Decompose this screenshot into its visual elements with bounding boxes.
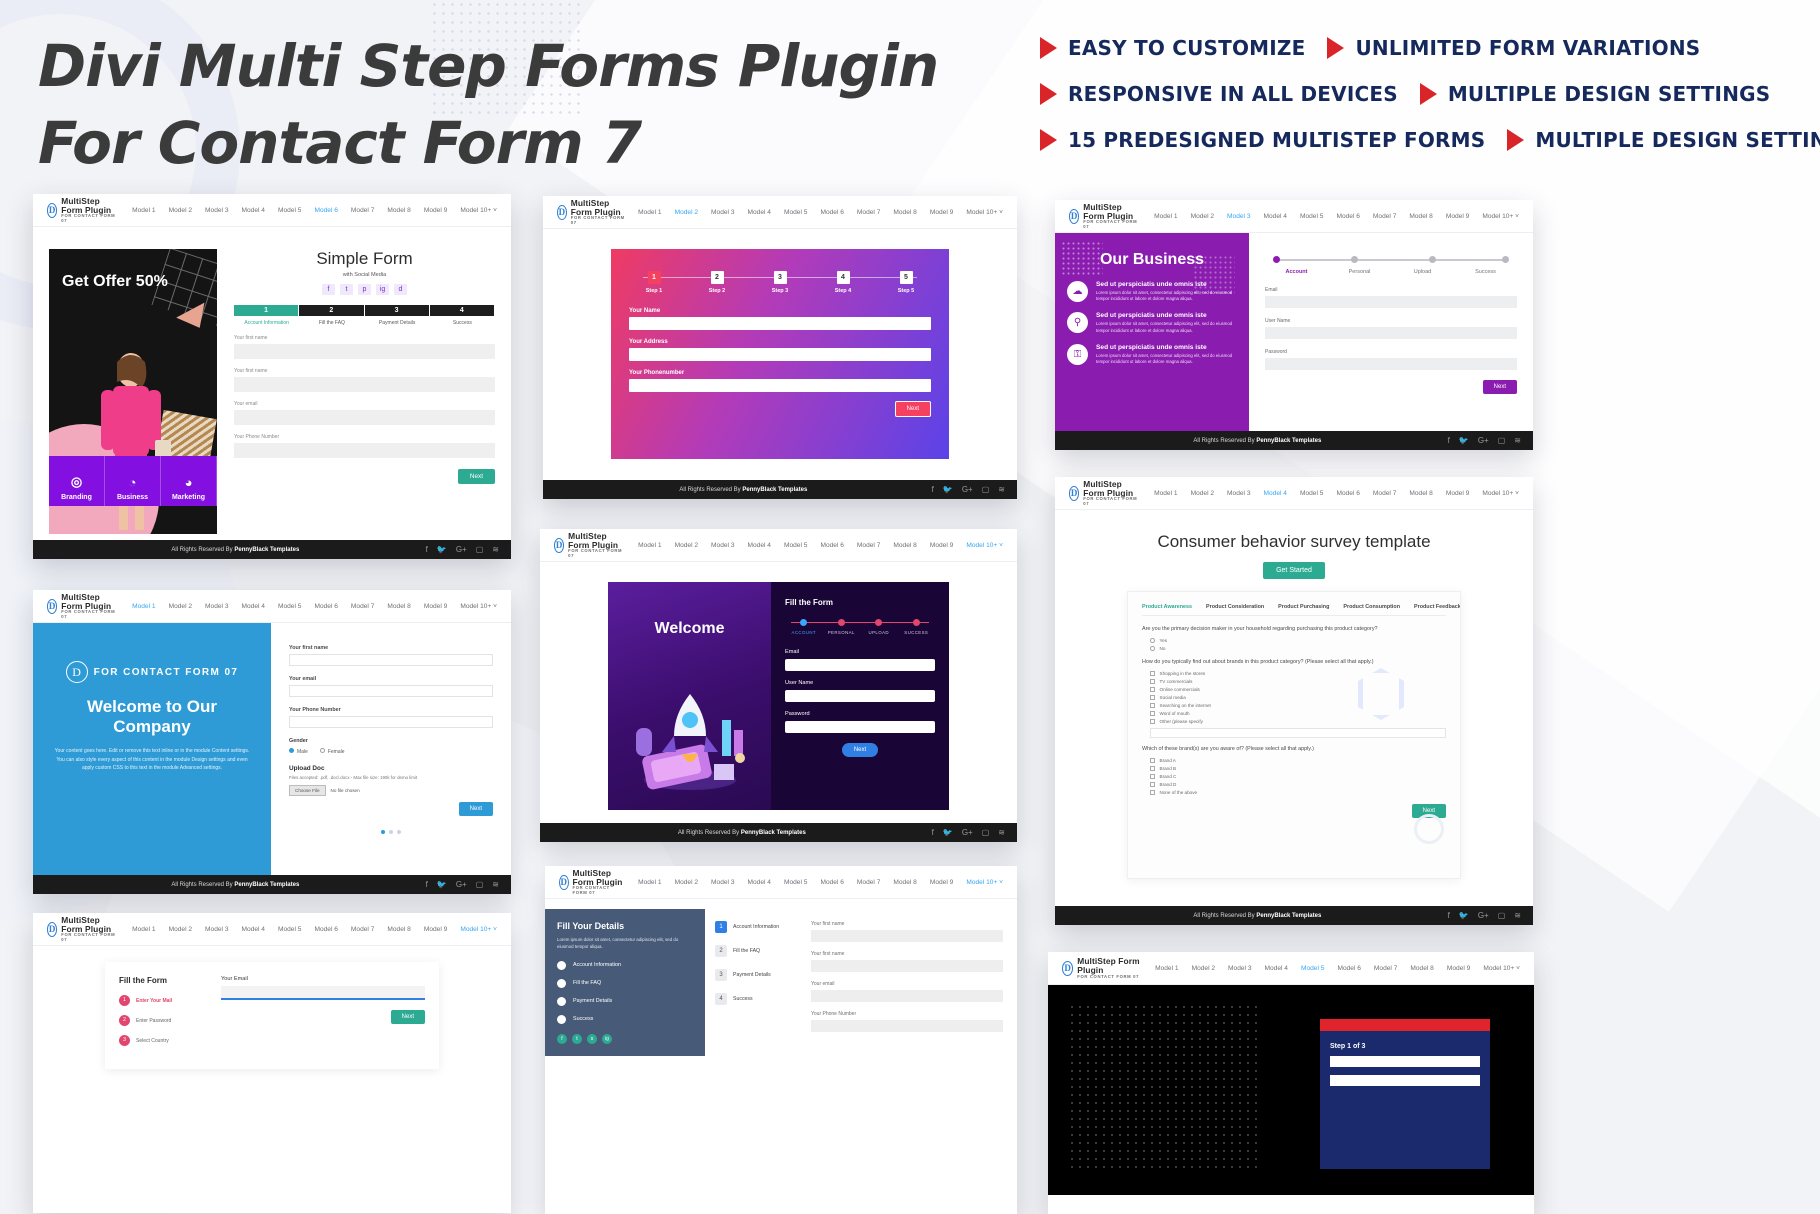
last-name-input[interactable] <box>234 377 495 392</box>
name-input[interactable] <box>629 317 931 330</box>
tab-product-awareness[interactable]: Product Awareness <box>1142 604 1192 610</box>
nav-item-model-3[interactable]: Model 3 <box>205 207 228 214</box>
checkbox-option[interactable]: Brand B <box>1150 766 1446 771</box>
arrow-right-icon <box>1507 129 1524 151</box>
facebook-icon[interactable]: f <box>932 828 934 837</box>
step-enter-password[interactable]: 2 Enter Password <box>119 1015 211 1026</box>
category-marketing[interactable]: ◕ Marketing <box>161 456 217 506</box>
feature-item: MULTIPLE DESIGN SETTINGS <box>1420 82 1771 106</box>
instagram-icon[interactable]: ▢ <box>982 828 990 837</box>
progress-dot-success[interactable] <box>1502 256 1509 263</box>
nav-item-model-9[interactable]: Model 9 <box>1446 490 1469 497</box>
tab-product-consumption[interactable]: Product Consumption <box>1343 604 1400 610</box>
email-input[interactable] <box>289 685 493 697</box>
field-label: Your email <box>234 401 495 407</box>
nav-item-model-4[interactable]: Model 4 <box>748 542 771 549</box>
step-2[interactable]: 2 Step 2 <box>698 271 736 294</box>
step-payment-details[interactable]: 3Payment Details <box>715 969 811 981</box>
nav-item-model-2[interactable]: Model 2 <box>1192 965 1215 972</box>
nav-item-model-9[interactable]: Model 9 <box>930 879 953 886</box>
nav-item-model-8[interactable]: Model 8 <box>387 603 410 610</box>
nav-item-model-2[interactable]: Model 2 <box>1191 490 1214 497</box>
nav-item-model-9[interactable]: Model 9 <box>424 603 447 610</box>
nav-item-model-2[interactable]: Model 2 <box>675 542 698 549</box>
site-nav: D MultiStep Form Plugin FOR CONTACT FORM… <box>33 913 511 946</box>
step-1[interactable]: 1 Step 1 <box>635 271 673 294</box>
rss-icon[interactable]: ≋ <box>1514 911 1521 920</box>
form-subtitle: with Social Media <box>234 272 495 278</box>
instagram-icon[interactable]: ▢ <box>1498 436 1506 445</box>
skype-icon[interactable]: s <box>587 1034 597 1044</box>
form-input[interactable] <box>1330 1075 1480 1086</box>
tab-product-purchasing[interactable]: Product Purchasing <box>1278 604 1329 610</box>
nav-item-model-6[interactable]: Model 6 <box>314 926 337 933</box>
feature-label: MULTIPLE DESIGN SETTINGS <box>1535 128 1820 152</box>
password-input[interactable] <box>1265 358 1517 370</box>
nav-item-model-1[interactable]: Model 1 <box>1155 965 1178 972</box>
gender-label: Gender <box>289 738 493 744</box>
question-2: How do you typically find out about bran… <box>1142 659 1446 665</box>
instagram-icon[interactable]: ▢ <box>982 485 990 494</box>
nav-item-model-8[interactable]: Model 8 <box>387 926 410 933</box>
pager-dot-1[interactable] <box>381 830 385 834</box>
googleplus-icon[interactable]: G+ <box>1478 436 1489 445</box>
brand-logo: D MultiStep Form Plugin FOR CONTACT FORM… <box>559 869 625 895</box>
step-number-1[interactable]: 1 <box>234 305 298 316</box>
field-label: Your first name <box>811 921 1003 927</box>
nav-item-model-5[interactable]: Model 5 <box>1300 490 1323 497</box>
twitter-icon[interactable]: 🐦 <box>437 545 447 554</box>
business-panel: Our Business ☁ Sed ut perspiciatis unde … <box>1055 233 1249 431</box>
email-input[interactable] <box>785 659 935 671</box>
progress-dot-personal[interactable] <box>1351 256 1358 263</box>
nav-item-model-6[interactable]: Model 6 <box>1336 490 1359 497</box>
divi-logo-icon: D <box>554 538 564 553</box>
next-button[interactable]: Next <box>842 743 878 757</box>
business-icon: ◔ <box>129 475 137 490</box>
footer-socials: f 🐦 G+ ▢ ≋ <box>932 485 1005 494</box>
nav-item-model-10plus[interactable]: Model 10+ ˅ <box>966 542 1003 549</box>
nav-item-model-1[interactable]: Model 1 <box>132 603 155 610</box>
divi-logo-icon: D <box>66 661 88 683</box>
brand-tagline: FOR CONTACT FORM 07 <box>61 933 119 942</box>
username-input[interactable] <box>785 690 935 702</box>
twitter-icon[interactable]: 🐦 <box>1459 436 1469 445</box>
nav-item-model-10plus[interactable]: Model 10+ ˅ <box>460 207 497 214</box>
nav-item-model-1[interactable]: Model 1 <box>132 207 155 214</box>
next-button[interactable]: Next <box>1483 380 1517 394</box>
nav-item-model-5[interactable]: Model 5 <box>784 209 807 216</box>
nav-item-model-9[interactable]: Model 9 <box>424 207 447 214</box>
nav-item-model-3[interactable]: Model 3 <box>711 542 734 549</box>
feature-label: MULTIPLE DESIGN SETTINGS <box>1448 82 1771 106</box>
nav-item-model-3[interactable]: Model 3 <box>205 926 228 933</box>
radio-option[interactable]: Yes <box>1150 638 1446 643</box>
hero-line-2: For Contact Form 7 <box>38 105 988 182</box>
site-footer: All Rights Reserved By PennyBlack Templa… <box>543 480 1017 499</box>
checkbox-option[interactable]: Shopping in the stores <box>1150 671 1446 676</box>
step-number-2[interactable]: 2 <box>299 305 363 316</box>
checkbox-option[interactable]: Other (please specify <box>1150 719 1446 724</box>
feature-item: MULTIPLE DESIGN SETTINGS <box>1507 128 1820 152</box>
field-label: User Name <box>1265 318 1517 324</box>
progress-label-account: Account <box>1265 269 1328 275</box>
googleplus-icon[interactable]: G+ <box>962 828 973 837</box>
step-number: 4 <box>837 271 850 284</box>
step-select-country[interactable]: 3 Select Country <box>119 1035 211 1046</box>
social-icons: f t p ig d <box>234 284 495 295</box>
step-4[interactable]: 4 Step 4 <box>824 271 862 294</box>
panel-step-account[interactable]: Account Information <box>557 961 693 970</box>
next-button[interactable]: Next <box>459 802 493 816</box>
rss-icon[interactable]: ≋ <box>1514 436 1521 445</box>
address-input[interactable] <box>629 348 931 361</box>
rss-icon[interactable]: ≋ <box>492 545 499 554</box>
nav-item-model-8[interactable]: Model 8 <box>1409 213 1432 220</box>
field-group: Email <box>1265 287 1517 308</box>
pager-dot-2[interactable] <box>389 830 393 834</box>
nav-item-model-5[interactable]: Model 5 <box>278 603 301 610</box>
nav-item-model-3[interactable]: Model 3 <box>205 603 228 610</box>
twitter-icon[interactable]: 🐦 <box>1459 911 1469 920</box>
nav-item-model-7[interactable]: Model 7 <box>1374 965 1397 972</box>
twitter-icon[interactable]: 🐦 <box>943 485 953 494</box>
nav-item-model-7[interactable]: Model 7 <box>857 879 880 886</box>
feature-item: 15 PREDESIGNED MULTISTEP FORMS <box>1040 128 1485 152</box>
nav-item-model-3[interactable]: Model 3 <box>1227 490 1250 497</box>
step-success[interactable]: 4Success <box>715 993 811 1005</box>
promo-headline: Get Offer 50% <box>62 273 168 291</box>
field-group: Your first name <box>289 645 493 666</box>
step-enter-mail[interactable]: 1 Enter Your Mail <box>119 995 211 1006</box>
nav-item-model-2[interactable]: Model 2 <box>169 926 192 933</box>
panel-step-success[interactable]: Success <box>557 1015 693 1024</box>
details-panel: Fill Your Details Lorem ipsum dolor sit … <box>545 909 705 1056</box>
nav-item-model-10plus[interactable]: Model 10+ ˅ <box>966 879 1003 886</box>
nav-item-model-7[interactable]: Model 7 <box>351 207 374 214</box>
form-title: Simple Form <box>234 249 495 269</box>
facebook-icon[interactable]: f <box>322 284 335 295</box>
nav-item-model-2[interactable]: Model 2 <box>675 209 698 216</box>
screenshot-card-model-5-dark: D MultiStep Form Plugin FOR CONTACT FORM… <box>1048 952 1534 1214</box>
screenshot-card-model-2: D MultiStep Form Plugin FOR CONTACT FORM… <box>543 196 1017 499</box>
field-label: Your Email <box>221 976 425 982</box>
tab-product-feedback[interactable]: Product Feedback <box>1414 604 1461 610</box>
get-started-button[interactable]: Get Started <box>1263 562 1325 579</box>
nav-item-model-2[interactable]: Model 2 <box>675 879 698 886</box>
question-1-options: Yes No <box>1150 638 1446 651</box>
checkbox-option[interactable]: None of the above <box>1150 790 1446 795</box>
progress-labels: Account Personal Upload Success <box>1265 269 1517 275</box>
next-button[interactable]: Next <box>458 469 495 484</box>
nav-item-model-6[interactable]: Model 6 <box>314 207 337 214</box>
twitter-icon[interactable]: t <box>572 1034 582 1044</box>
step-number: 5 <box>900 271 913 284</box>
nav-item-model-8[interactable]: Model 8 <box>1409 490 1432 497</box>
nav-item-model-4[interactable]: Model 4 <box>748 879 771 886</box>
tab-product-consideration[interactable]: Product Consideration <box>1206 604 1264 610</box>
feature-label: EASY TO CUSTOMIZE <box>1068 36 1305 60</box>
phone-input[interactable] <box>811 1020 1003 1032</box>
site-footer: All Rights Reserved By PennyBlack Templa… <box>33 540 511 559</box>
brand-tagline: FOR CONTACT FORM 07 <box>571 216 625 225</box>
nav-item-model-10plus[interactable]: Model 10+ ˅ <box>1482 213 1519 220</box>
nav-item-model-8[interactable]: Model 8 <box>893 542 916 549</box>
nav-item-model-4[interactable]: Model 4 <box>1265 965 1288 972</box>
brand-name: MultiStep Form Plugin <box>573 869 626 887</box>
welcome-text: Welcome <box>655 620 725 638</box>
phone-input[interactable] <box>234 443 495 458</box>
next-button[interactable]: Next <box>391 1010 425 1024</box>
nav-item-model-1[interactable]: Model 1 <box>1154 490 1177 497</box>
step-personal[interactable]: PERSONAL <box>823 619 861 635</box>
choose-file-button[interactable]: Choose File <box>289 785 326 796</box>
first-name-input[interactable] <box>811 930 1003 942</box>
nav-item-model-5[interactable]: Model 5 <box>784 542 807 549</box>
instagram-icon[interactable]: ▢ <box>1498 911 1506 920</box>
panel-title: Fill Your Details <box>557 921 693 931</box>
nav-item-model-2[interactable]: Model 2 <box>169 207 192 214</box>
branding-icon: ◎ <box>71 474 82 490</box>
screenshot-card-model-1: D MultiStep Form Plugin FOR CONTACT FORM… <box>33 590 511 894</box>
nav-item-model-5[interactable]: Model 5 <box>278 207 301 214</box>
radio-male[interactable]: Male <box>289 748 308 755</box>
twitter-icon[interactable]: 🐦 <box>943 828 953 837</box>
nav-item-model-7[interactable]: Model 7 <box>351 926 374 933</box>
field-group: Your Phonenumber <box>629 370 931 392</box>
nav-item-model-9[interactable]: Model 9 <box>1447 965 1470 972</box>
step-5[interactable]: 5 Step 5 <box>887 271 925 294</box>
nav-item-model-3[interactable]: Model 3 <box>1228 965 1251 972</box>
nav-item-model-5[interactable]: Model 5 <box>1300 213 1323 220</box>
nav-item-model-6[interactable]: Model 6 <box>820 879 843 886</box>
checkbox-option[interactable]: Brand C <box>1150 774 1446 779</box>
file-input-row[interactable]: Choose File No file chosen <box>289 785 493 796</box>
screenshot-card-model-4-survey: D MultiStep Form Plugin FOR CONTACT FORM… <box>1055 477 1533 925</box>
gradient-form: 1 Step 1 2 Step 2 3 Step 3 4 Step 4 <box>611 249 949 459</box>
feature-row: EASY TO CUSTOMIZE UNLIMITED FORM VARIATI… <box>1040 36 1800 60</box>
googleplus-icon[interactable]: G+ <box>456 545 467 554</box>
step-account[interactable]: ACCOUNT <box>785 619 823 635</box>
promo-page: Divi Multi Step Forms Plugin For Contact… <box>0 0 1820 1214</box>
googleplus-icon[interactable]: G+ <box>456 880 467 889</box>
checkbox-option[interactable]: Brand D <box>1150 782 1446 787</box>
nav-item-model-7[interactable]: Model 7 <box>1373 490 1396 497</box>
nav-item-model-1[interactable]: Model 1 <box>638 542 661 549</box>
first-name-input[interactable] <box>289 654 493 666</box>
footer-text: All Rights Reserved By PennyBlack Templa… <box>679 487 807 493</box>
item-desc: Lorem ipsum dolor sit amet, consectetur … <box>1096 321 1237 333</box>
googleplus-icon[interactable]: G+ <box>962 485 973 494</box>
googleplus-icon[interactable]: G+ <box>1478 911 1489 920</box>
facebook-icon[interactable]: f <box>426 545 428 554</box>
radio-female[interactable]: Female <box>320 748 345 755</box>
field-group: Your email <box>289 676 493 697</box>
twitter-icon[interactable]: t <box>340 284 353 295</box>
brand-logo: D MultiStep Form Plugin FOR CONTACT FORM… <box>1062 957 1142 979</box>
nav-item-model-10plus[interactable]: Model 10+ ˅ <box>966 209 1003 216</box>
checkbox-option[interactable]: Word of mouth <box>1150 711 1446 716</box>
nav-item-model-3[interactable]: Model 3 <box>711 209 734 216</box>
nav-item-model-8[interactable]: Model 8 <box>1410 965 1433 972</box>
field-group: Password <box>785 711 935 733</box>
nav-item-model-6[interactable]: Model 6 <box>314 603 337 610</box>
survey-tabs: Product Awareness Product Consideration … <box>1142 604 1446 616</box>
panel-step-payment[interactable]: Payment Details <box>557 997 693 1006</box>
brand-tagline: FOR CONTACT FORM 07 <box>1077 975 1142 979</box>
phone-input[interactable] <box>629 379 931 392</box>
nav-item-model-4[interactable]: Model 4 <box>1264 490 1287 497</box>
email-input[interactable] <box>221 986 425 1000</box>
field-group: Your first name <box>811 951 1003 972</box>
nav-item-model-2[interactable]: Model 2 <box>169 603 192 610</box>
checkbox-option[interactable]: Brand A <box>1150 758 1446 763</box>
instagram-icon[interactable]: ▢ <box>476 545 484 554</box>
phone-input[interactable] <box>289 716 493 728</box>
nav-item-model-5[interactable]: Model 5 <box>278 926 301 933</box>
nav-item-model-6[interactable]: Model 6 <box>820 209 843 216</box>
footer-text: All Rights Reserved By PennyBlack Templa… <box>678 830 806 836</box>
step-success[interactable]: SUCCESS <box>898 619 936 635</box>
brand-logo: D MultiStep Form Plugin FOR CONTACT FORM… <box>557 199 625 225</box>
facebook-icon[interactable]: f <box>932 485 934 494</box>
nav-item-model-1[interactable]: Model 1 <box>638 879 661 886</box>
step-indicator: ACCOUNT PERSONAL UPLOAD SUCCESS <box>785 619 935 635</box>
nav-item-model-5[interactable]: Model 5 <box>784 879 807 886</box>
rocket-illustration <box>630 672 750 792</box>
step-upload[interactable]: UPLOAD <box>860 619 898 635</box>
nav-links: Model 1 Model 2 Model 3 Model 4 Model 5 … <box>625 209 1003 216</box>
nav-item-model-9[interactable]: Model 9 <box>1446 213 1469 220</box>
next-button[interactable]: Next <box>895 401 931 417</box>
nav-item-model-4[interactable]: Model 4 <box>242 926 265 933</box>
fill-form-panel: Fill the Form 1 Enter Your Mail 2 Enter … <box>105 962 439 1069</box>
nav-item-model-1[interactable]: Model 1 <box>132 926 155 933</box>
category-label: Branding <box>61 494 92 501</box>
upload-note: Files accepted: .pdf, .doc/.docx - Max f… <box>289 775 493 780</box>
nav-item-model-3[interactable]: Model 3 <box>711 879 734 886</box>
nav-item-model-6[interactable]: Model 6 <box>1337 965 1360 972</box>
nav-item-model-4[interactable]: Model 4 <box>242 207 265 214</box>
brand-name: MultiStep Form Plugin <box>1083 203 1141 221</box>
nav-item-model-4[interactable]: Model 4 <box>1264 213 1287 220</box>
field-group: Your Address <box>629 339 931 361</box>
brand-tagline: FOR CONTACT FORM 07 <box>568 549 625 558</box>
nav-item-model-9[interactable]: Model 9 <box>930 209 953 216</box>
category-business[interactable]: ◔ Business <box>105 456 161 506</box>
password-input[interactable] <box>785 721 935 733</box>
step-number-4[interactable]: 4 <box>430 305 494 316</box>
progress-label-personal: Personal <box>1328 269 1391 275</box>
dribbble-icon[interactable]: d <box>394 284 407 295</box>
step-label: Enter Password <box>136 1018 171 1024</box>
instagram-icon[interactable]: ig <box>602 1034 612 1044</box>
nav-item-model-8[interactable]: Model 8 <box>893 209 916 216</box>
nav-item-model-10plus[interactable]: Model 10+ ˅ <box>1482 490 1519 497</box>
nav-item-model-10plus[interactable]: Model 10+ ˅ <box>1483 965 1520 972</box>
nav-item-model-4[interactable]: Model 4 <box>242 603 265 610</box>
site-footer: All Rights Reserved By PennyBlack Templa… <box>1055 906 1533 925</box>
rss-icon[interactable]: ≋ <box>998 828 1005 837</box>
nav-item-model-6[interactable]: Model 6 <box>820 542 843 549</box>
twitter-icon[interactable]: 🐦 <box>437 880 447 889</box>
email-input[interactable] <box>1265 296 1517 308</box>
nav-item-model-5[interactable]: Model 5 <box>1301 965 1324 972</box>
other-specify-input[interactable] <box>1150 728 1446 738</box>
item-title: Sed ut perspiciatis unde omnis iste <box>1096 344 1237 351</box>
nav-item-model-7[interactable]: Model 7 <box>857 542 880 549</box>
facebook-icon[interactable]: f <box>1448 911 1450 920</box>
form-input[interactable] <box>1330 1056 1480 1067</box>
radio-option[interactable]: No <box>1150 646 1446 651</box>
panel-step-faq[interactable]: Fill the FAQ <box>557 979 693 988</box>
nav-item-model-10plus[interactable]: Model 10+ ˅ <box>460 926 497 933</box>
nav-item-model-7[interactable]: Model 7 <box>1373 213 1396 220</box>
nav-item-model-1[interactable]: Model 1 <box>638 209 661 216</box>
step-fill-the-faq[interactable]: 2Fill the FAQ <box>715 945 811 957</box>
progress-dot-account[interactable] <box>1273 256 1280 263</box>
step-3[interactable]: 3 Step 3 <box>761 271 799 294</box>
category-branding[interactable]: ◎ Branding <box>49 456 105 506</box>
nav-item-model-9[interactable]: Model 9 <box>424 926 447 933</box>
step-number-3[interactable]: 3 <box>365 305 429 316</box>
field-group: Your Phone Number <box>289 707 493 728</box>
divi-logo-icon: D <box>1069 209 1079 224</box>
nav-item-model-8[interactable]: Model 8 <box>387 207 410 214</box>
field-group: User Name <box>1265 318 1517 339</box>
nav-item-model-1[interactable]: Model 1 <box>1154 213 1177 220</box>
divi-logo-icon: D <box>557 205 567 220</box>
nav-item-model-10plus[interactable]: Model 10+ ˅ <box>460 603 497 610</box>
brand-logo: D MultiStep Form Plugin FOR CONTACT FORM… <box>1069 203 1141 229</box>
nav-item-model-7[interactable]: Model 7 <box>857 209 880 216</box>
rss-icon[interactable]: ≋ <box>998 485 1005 494</box>
email-input[interactable] <box>811 990 1003 1002</box>
rss-icon[interactable]: ≋ <box>492 880 499 889</box>
nav-item-model-6[interactable]: Model 6 <box>1336 213 1359 220</box>
site-nav: D MultiStep Form Plugin FOR CONTACT FORM… <box>1055 200 1533 233</box>
nav-item-model-4[interactable]: Model 4 <box>748 209 771 216</box>
site-nav: D MultiStep Form Plugin FOR CONTACT FORM… <box>1048 952 1534 985</box>
instagram-icon[interactable]: ig <box>376 284 389 295</box>
progress-dot-upload[interactable] <box>1429 256 1436 263</box>
nav-item-model-2[interactable]: Model 2 <box>1191 213 1214 220</box>
upload-title: Upload Doc <box>289 765 493 772</box>
footer-socials: f 🐦 G+ ▢ ≋ <box>1448 911 1521 920</box>
pager-dot-3[interactable] <box>397 830 401 834</box>
facebook-icon[interactable]: f <box>1448 436 1450 445</box>
facebook-icon[interactable]: f <box>557 1034 567 1044</box>
item-desc: Lorem ipsum dolor sit amet, consectetur … <box>1096 353 1237 365</box>
last-name-input[interactable] <box>811 960 1003 972</box>
step-account-information[interactable]: 1Account Information <box>715 921 811 933</box>
field-group: Email <box>785 649 935 671</box>
nav-item-model-7[interactable]: Model 7 <box>351 603 374 610</box>
email-input[interactable] <box>234 410 495 425</box>
feature-item: RESPONSIVE IN ALL DEVICES <box>1040 82 1398 106</box>
username-input[interactable] <box>1265 327 1517 339</box>
panel-socials: f t s ig <box>557 1034 693 1044</box>
nav-item-model-9[interactable]: Model 9 <box>930 542 953 549</box>
first-name-input[interactable] <box>234 344 495 359</box>
instagram-icon[interactable]: ▢ <box>476 880 484 889</box>
nav-item-model-8[interactable]: Model 8 <box>893 879 916 886</box>
pinterest-icon[interactable]: p <box>358 284 371 295</box>
nav-links: Model 1 Model 2 Model 3 Model 4 Model 5 … <box>1141 490 1519 497</box>
step-label: Enter Your Mail <box>136 998 172 1004</box>
facebook-icon[interactable]: f <box>426 880 428 889</box>
nav-item-model-3[interactable]: Model 3 <box>1227 213 1250 220</box>
